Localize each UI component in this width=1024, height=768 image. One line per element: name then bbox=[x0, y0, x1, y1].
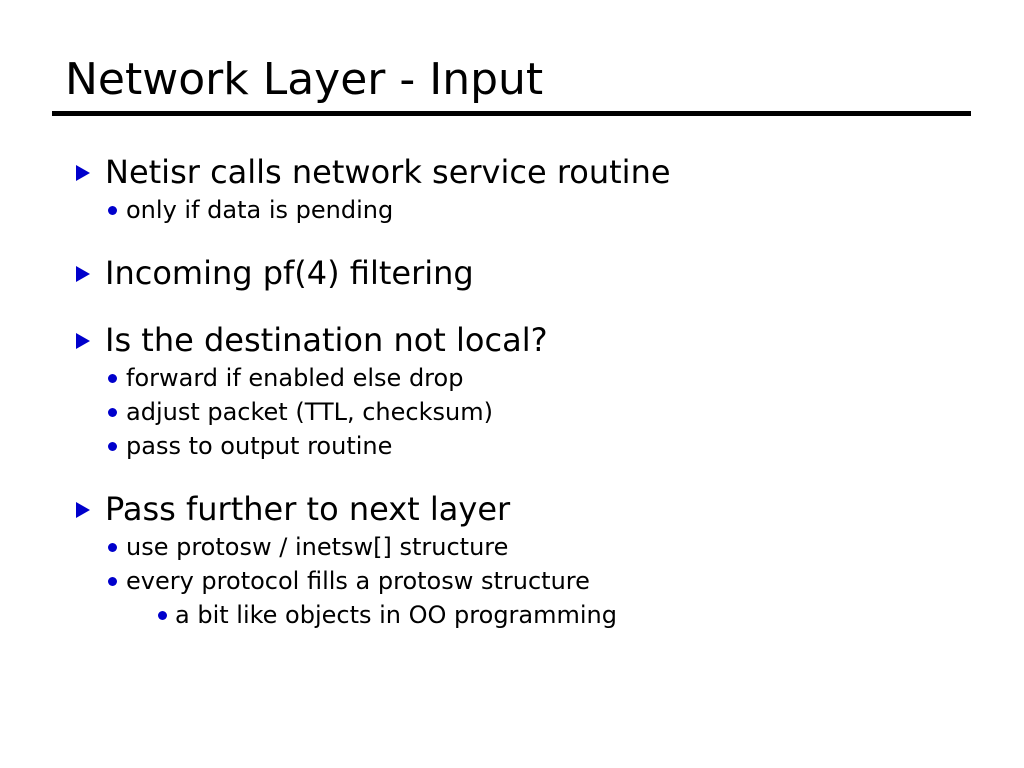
bullet-level1: Pass further to next layer bbox=[0, 489, 1024, 530]
bullet-level2: every protocol fills a protosw structure bbox=[0, 564, 1024, 598]
bullet-level2: use protosw / inetsw[] structure bbox=[0, 530, 1024, 564]
triangle-bullet-icon bbox=[76, 165, 90, 181]
bullet-level2-label: use protosw / inetsw[] structure bbox=[126, 533, 508, 561]
dot-bullet-icon bbox=[158, 611, 167, 620]
bullet-group: Pass further to next layer use protosw /… bbox=[0, 489, 1024, 632]
bullet-group: Incoming pf(4) filtering bbox=[0, 253, 1024, 294]
bullet-level1-label: Is the destination not local? bbox=[105, 321, 548, 359]
bullet-level2: only if data is pending bbox=[0, 193, 1024, 227]
triangle-bullet-icon bbox=[76, 266, 90, 282]
dot-bullet-icon bbox=[108, 408, 117, 417]
bullet-group: Is the destination not local? forward if… bbox=[0, 320, 1024, 463]
bullet-level1-label: Incoming pf(4) filtering bbox=[105, 254, 474, 292]
bullet-level2-label: every protocol fills a protosw structure bbox=[126, 567, 590, 595]
bullet-level2: adjust packet (TTL, checksum) bbox=[0, 395, 1024, 429]
bullet-list: Netisr calls network service routine onl… bbox=[0, 152, 1024, 632]
triangle-bullet-icon bbox=[76, 502, 90, 518]
bullet-level1: Is the destination not local? bbox=[0, 320, 1024, 361]
bullet-level3-label: a bit like objects in OO programming bbox=[175, 601, 617, 629]
bullet-level2-label: adjust packet (TTL, checksum) bbox=[126, 398, 493, 426]
bullet-level3: a bit like objects in OO programming bbox=[0, 598, 1024, 632]
bullet-level1-label: Netisr calls network service routine bbox=[105, 153, 671, 191]
bullet-level2-label: pass to output routine bbox=[126, 432, 392, 460]
dot-bullet-icon bbox=[108, 374, 117, 383]
bullet-level1-label: Pass further to next layer bbox=[105, 490, 510, 528]
dot-bullet-icon bbox=[108, 206, 117, 215]
bullet-level2-label: forward if enabled else drop bbox=[126, 364, 463, 392]
page-title: Network Layer - Input bbox=[65, 54, 543, 106]
title-underline-rule bbox=[52, 111, 971, 116]
slide: Network Layer - Input Netisr calls netwo… bbox=[0, 0, 1024, 768]
bullet-group: Netisr calls network service routine onl… bbox=[0, 152, 1024, 227]
dot-bullet-icon bbox=[108, 442, 117, 451]
bullet-level1: Incoming pf(4) filtering bbox=[0, 253, 1024, 294]
triangle-bullet-icon bbox=[76, 333, 90, 349]
dot-bullet-icon bbox=[108, 543, 117, 552]
bullet-level2: pass to output routine bbox=[0, 429, 1024, 463]
bullet-level2-label: only if data is pending bbox=[126, 196, 393, 224]
bullet-level2: forward if enabled else drop bbox=[0, 361, 1024, 395]
dot-bullet-icon bbox=[108, 577, 117, 586]
bullet-level1: Netisr calls network service routine bbox=[0, 152, 1024, 193]
